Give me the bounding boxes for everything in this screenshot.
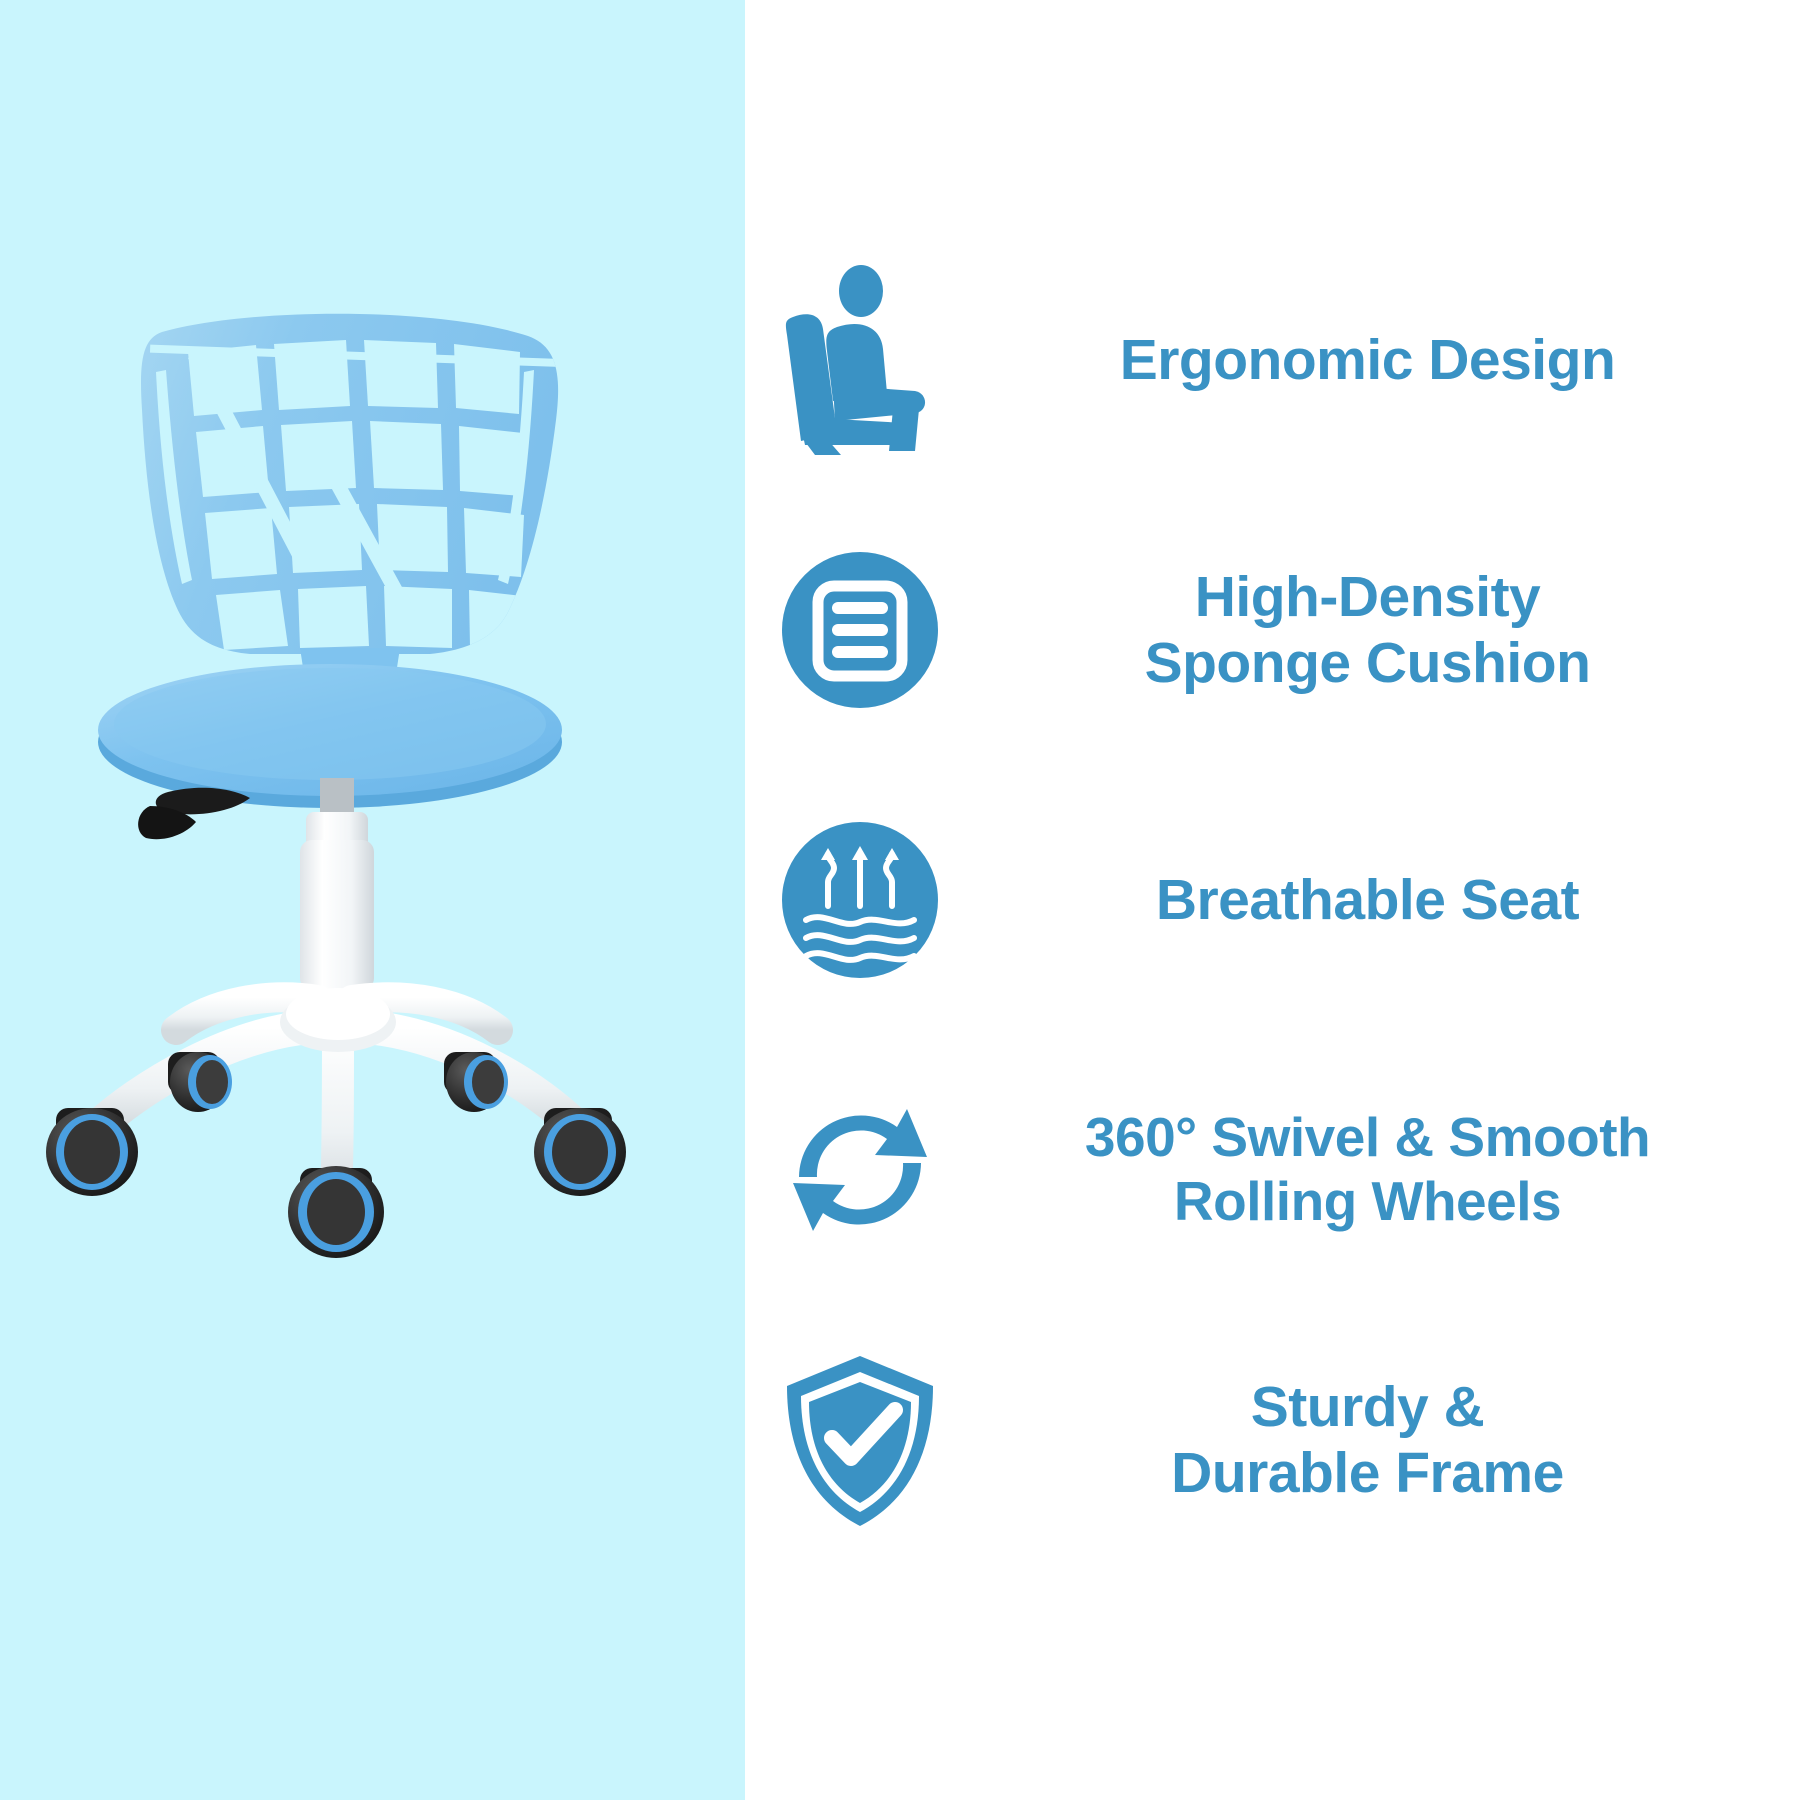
office-chair-illustration <box>0 0 745 1800</box>
feature-row-swivel-wheels: 360° Swivel & Smooth Rolling Wheels <box>745 1035 1770 1305</box>
feature-row-ergonomic-design: Ergonomic Design <box>745 225 1770 495</box>
feature-label-swivel-wheels: 360° Swivel & Smooth Rolling Wheels <box>975 1106 1770 1234</box>
breathable-airflow-icon <box>745 820 975 980</box>
feature-label-durable-frame: Sturdy & Durable Frame <box>975 1374 1770 1506</box>
product-image-panel <box>0 0 745 1800</box>
feature-label-sponge-cushion: High-Density Sponge Cushion <box>975 564 1770 696</box>
swivel-rotation-arrows-icon <box>745 1085 975 1255</box>
shield-check-durability-icon <box>745 1350 975 1530</box>
chair-backrest <box>141 314 570 654</box>
product-infographic: Ergonomic Design High-Density Sponge Cus… <box>0 0 1800 1800</box>
feature-label-breathable-seat: Breathable Seat <box>975 867 1770 933</box>
feature-row-breathable-seat: Breathable Seat <box>745 765 1770 1035</box>
feature-row-durable-frame: Sturdy & Durable Frame <box>745 1305 1770 1575</box>
gas-lift-cylinder <box>300 778 374 990</box>
feature-list-panel: Ergonomic Design High-Density Sponge Cus… <box>745 0 1800 1800</box>
feature-label-ergonomic-design: Ergonomic Design <box>975 327 1770 393</box>
height-adjust-lever <box>138 788 250 839</box>
ergonomic-sitting-person-icon <box>745 265 975 455</box>
sponge-cushion-layers-icon <box>745 550 975 710</box>
feature-row-sponge-cushion: High-Density Sponge Cushion <box>745 495 1770 765</box>
